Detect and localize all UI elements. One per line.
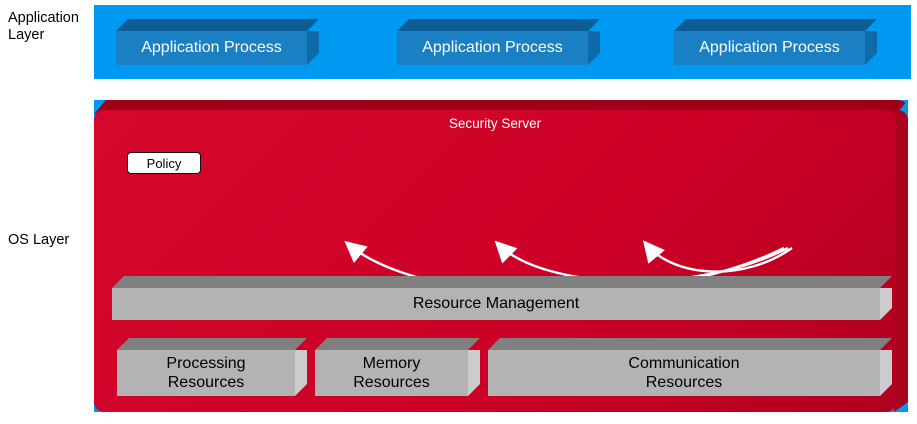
- box-top-face: [112, 276, 892, 288]
- application-process-label-3: Application Process: [674, 31, 865, 65]
- box-side-face: [468, 350, 480, 396]
- application-layer-panel: Application Process Application Process …: [94, 5, 911, 79]
- box-side-face: [880, 350, 892, 396]
- layer-label-application: Application Layer: [8, 10, 79, 44]
- box-side-face: [880, 288, 892, 320]
- resource-management-bar[interactable]: Resource Management: [112, 276, 892, 320]
- box-side-face: [295, 350, 307, 396]
- policy-badge[interactable]: Policy: [127, 152, 201, 174]
- box-top-face: [315, 338, 480, 350]
- resource-management-label: Resource Management: [112, 288, 880, 320]
- box-side-face: [865, 31, 877, 65]
- resource-label-communication: Communication Resources: [488, 350, 880, 396]
- application-process-label-2: Application Process: [397, 31, 588, 65]
- box-side-face: [307, 31, 319, 65]
- resource-box-processing[interactable]: Processing Resources: [117, 338, 307, 396]
- application-process-box-3[interactable]: Application Process: [674, 19, 877, 65]
- application-process-box-2[interactable]: Application Process: [397, 19, 600, 65]
- resource-label-processing: Processing Resources: [117, 350, 295, 396]
- application-process-box-1[interactable]: Application Process: [116, 19, 319, 65]
- resource-box-communication[interactable]: Communication Resources: [488, 338, 892, 396]
- box-top-face: [674, 19, 877, 31]
- layer-label-os: OS Layer: [8, 232, 69, 249]
- resource-label-memory: Memory Resources: [315, 350, 468, 396]
- box-top-face: [116, 19, 319, 31]
- box-top-face: [117, 338, 307, 350]
- security-server-box[interactable]: Security Server Policy: [94, 100, 244, 176]
- box-top-face: [397, 19, 600, 31]
- box-side-face: [588, 31, 600, 65]
- box-top-face: [488, 338, 892, 350]
- box-side-face: [894, 110, 908, 412]
- os-layer-panel: Application Programmer's Interface (API)…: [94, 100, 908, 412]
- resource-box-memory[interactable]: Memory Resources: [315, 338, 480, 396]
- application-process-label-1: Application Process: [116, 31, 307, 65]
